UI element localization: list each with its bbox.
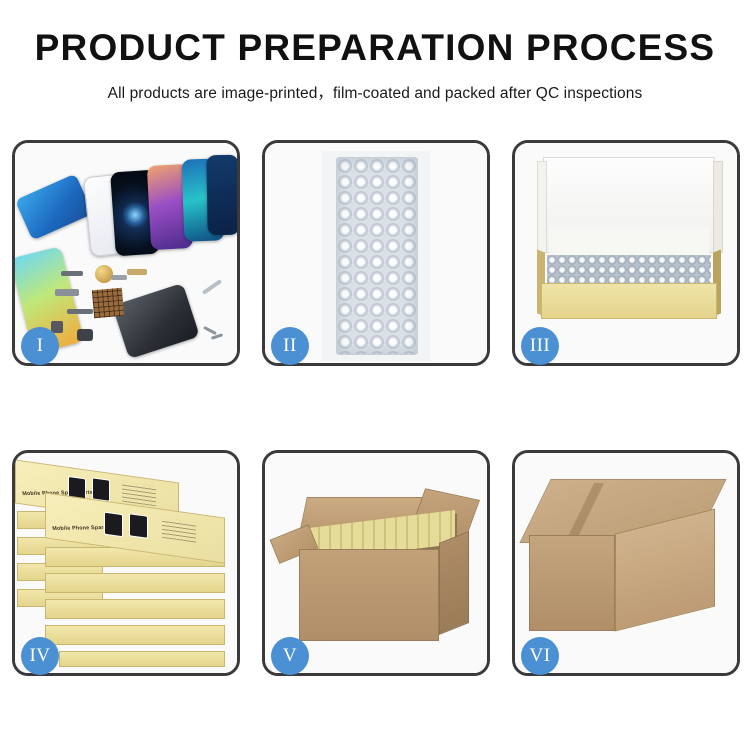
bubble-wrap-sheet	[336, 157, 418, 355]
step-card-2: II	[262, 140, 490, 366]
phone-screen-darkblue	[206, 155, 237, 236]
page-title: PRODUCT PREPARATION PROCESS	[0, 28, 750, 69]
phone-screen-blue	[15, 173, 93, 240]
connector-part	[55, 289, 79, 296]
stacked-box	[45, 625, 225, 645]
antenna-cable-part	[67, 309, 93, 314]
step-badge-2: II	[271, 327, 309, 365]
box-text-lines	[162, 518, 196, 543]
inner-box-lid-flap-left	[537, 161, 547, 253]
step-card-4: Mobile Phone Spare Parts Mobile Phone Sp…	[12, 450, 240, 676]
stacked-box	[45, 599, 225, 619]
phone-back-housing	[112, 283, 200, 359]
inner-box-front-panel	[541, 283, 717, 319]
stacked-box	[45, 573, 225, 593]
taptic-part	[77, 329, 93, 341]
bubble-wrap-backing	[322, 151, 430, 361]
step-badge-6: VI	[521, 637, 559, 675]
volume-flex-part	[111, 275, 127, 280]
step-badge-4: IV	[21, 637, 59, 675]
flex-cable-part	[61, 271, 83, 276]
sealed-carton-front	[529, 535, 615, 631]
box-screen-graphic	[104, 512, 123, 538]
stacked-box	[59, 651, 225, 667]
chip-board-part	[92, 288, 124, 319]
box-screen-graphic	[92, 477, 110, 502]
inner-box-foam-liner	[549, 227, 709, 257]
step-badge-3: III	[521, 327, 559, 365]
screw-part	[203, 326, 217, 335]
step-card-3: III	[512, 140, 740, 366]
speaker-part-icon	[95, 265, 113, 283]
box-screen-graphic	[129, 513, 148, 539]
step-card-6: VI	[512, 450, 740, 676]
step-badge-5: V	[271, 637, 309, 675]
step-card-5: V	[262, 450, 490, 676]
carton-front-panel	[299, 549, 439, 641]
process-steps-grid: I II III	[12, 140, 740, 685]
inner-box-lid-flap-right	[713, 161, 723, 253]
tweezers-tool	[202, 279, 222, 295]
box-text-lines	[122, 482, 156, 507]
screw-part-2	[211, 333, 223, 340]
page-subtitle: All products are image-printed，film-coat…	[0, 81, 750, 103]
bracket-part	[127, 269, 147, 275]
step-badge-1: I	[21, 327, 59, 365]
carton-side-right	[439, 531, 469, 635]
bubble-wrapped-contents	[547, 255, 711, 285]
page-header: PRODUCT PREPARATION PROCESS All products…	[0, 0, 750, 103]
step-card-1: I	[12, 140, 240, 366]
